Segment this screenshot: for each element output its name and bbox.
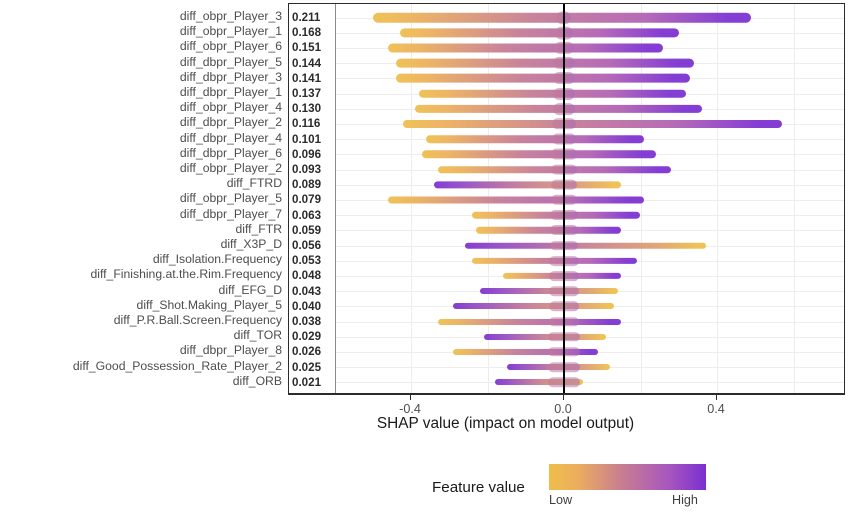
feature-importance-value: 0.130 — [292, 101, 321, 116]
beeswarm-row — [289, 208, 844, 223]
feature-importance-value: 0.025 — [292, 360, 321, 375]
feature-importance-value: 0.151 — [292, 40, 321, 55]
beeswarm-row — [289, 375, 844, 390]
beeswarm-row — [289, 56, 844, 71]
beeswarm-row — [289, 132, 844, 147]
feature-label: diff_ORB — [233, 374, 282, 389]
beeswarm-row — [289, 299, 844, 314]
beeswarm-point-cloud — [422, 151, 655, 158]
x-axis-tick — [410, 395, 411, 400]
x-axis-tick-label: -0.4 — [399, 402, 421, 416]
x-axis-tick — [716, 395, 717, 400]
beeswarm-row — [289, 192, 844, 207]
feature-importance-value: 0.063 — [292, 208, 321, 223]
beeswarm-row — [289, 329, 844, 344]
beeswarm-row — [289, 25, 844, 40]
feature-importance-value: 0.137 — [292, 86, 321, 101]
mean-abs-shap-value-column: 0.2110.1680.1510.1440.1410.1370.1300.116… — [289, 4, 336, 393]
beeswarm-row — [289, 147, 844, 162]
feature-label: diff_Shot.Making_Player_5 — [137, 298, 282, 313]
beeswarm-row — [289, 314, 844, 329]
feature-label: diff_obpr_Player_1 — [180, 24, 282, 39]
feature-importance-value: 0.059 — [292, 223, 321, 238]
beeswarm-row — [289, 284, 844, 299]
feature-importance-value: 0.040 — [292, 299, 321, 314]
color-legend: Feature value Low High — [0, 462, 861, 518]
feature-importance-value: 0.168 — [292, 25, 321, 40]
beeswarm-point-cloud — [396, 59, 694, 68]
feature-importance-value: 0.211 — [292, 10, 320, 25]
x-axis: -0.40.00.4 — [288, 394, 845, 395]
feature-label: diff_dbpr_Player_7 — [180, 207, 282, 222]
plot-panel: 0.2110.1680.1510.1440.1410.1370.1300.116… — [288, 3, 845, 394]
feature-importance-value: 0.021 — [292, 375, 321, 390]
beeswarm-row — [289, 238, 844, 253]
feature-importance-value: 0.144 — [292, 56, 321, 71]
legend-high-label: High — [672, 493, 698, 507]
feature-importance-value: 0.093 — [292, 162, 321, 177]
feature-label: diff_obpr_Player_6 — [180, 39, 282, 54]
feature-label: diff_dbpr_Player_6 — [180, 146, 282, 161]
beeswarm-row — [289, 162, 844, 177]
feature-label: diff_obpr_Player_5 — [180, 191, 282, 206]
feature-label: diff_EFG_D — [219, 283, 282, 298]
feature-label: diff_X3P_D — [221, 237, 282, 252]
beeswarm-row — [289, 360, 844, 375]
x-axis-tick-label: 0.0 — [554, 402, 572, 416]
zero-reference-line — [563, 4, 565, 393]
x-axis-title: SHAP value (impact on model output) — [227, 415, 634, 433]
feature-importance-value: 0.026 — [292, 344, 321, 359]
feature-label: diff_P.R.Ball.Screen.Frequency — [114, 313, 282, 328]
feature-label: diff_dbpr_Player_1 — [180, 85, 282, 100]
feature-importance-value: 0.043 — [292, 284, 321, 299]
beeswarm-row — [289, 268, 844, 283]
feature-importance-value: 0.079 — [292, 192, 321, 207]
feature-label: diff_dbpr_Player_8 — [180, 343, 282, 358]
feature-label: diff_FTRD — [227, 176, 282, 191]
beeswarm-row — [289, 40, 844, 55]
beeswarm-point-cloud — [484, 334, 606, 340]
beeswarm-point-cloud — [465, 242, 706, 248]
x-axis-title-wrap: SHAP value (impact on model output) — [0, 415, 861, 433]
beeswarm-row — [289, 71, 844, 86]
feature-importance-value: 0.116 — [292, 116, 320, 131]
feature-label: diff_dbpr_Player_2 — [180, 115, 282, 130]
legend-low-label: Low — [549, 493, 572, 507]
beeswarm-point-cloud — [400, 28, 679, 37]
beeswarm-point-cloud — [388, 196, 644, 203]
beeswarm-row — [289, 86, 844, 101]
feature-label-column: diff_obpr_Player_3diff_obpr_Player_1diff… — [0, 0, 286, 396]
beeswarm-row — [289, 223, 844, 238]
feature-importance-value: 0.096 — [292, 147, 321, 162]
feature-label: diff_TOR — [234, 328, 282, 343]
x-axis-tick-label: 0.4 — [707, 402, 725, 416]
beeswarm-row — [289, 344, 844, 359]
feature-label: diff_dbpr_Player_5 — [180, 55, 282, 70]
feature-importance-value: 0.029 — [292, 329, 321, 344]
feature-label: diff_Good_Possession_Rate_Player_2 — [73, 359, 282, 374]
shap-beeswarm-plot: diff_obpr_Player_3diff_obpr_Player_1diff… — [0, 0, 861, 518]
beeswarm-point-cloud — [438, 319, 622, 325]
feature-importance-value: 0.048 — [292, 268, 321, 283]
beeswarm-row — [289, 177, 844, 192]
beeswarm-point-cloud — [396, 74, 691, 83]
beeswarm-row — [289, 10, 844, 25]
beeswarm-point-cloud — [403, 120, 782, 128]
feature-importance-value: 0.089 — [292, 177, 321, 192]
feature-label: diff_FTR — [235, 222, 282, 237]
x-axis-line — [288, 394, 845, 395]
beeswarm-point-cloud — [434, 181, 621, 188]
feature-label: diff_dbpr_Player_4 — [180, 131, 282, 146]
feature-importance-value: 0.141 — [292, 71, 321, 86]
feature-importance-value: 0.053 — [292, 253, 321, 268]
beeswarm-point-cloud — [388, 44, 663, 53]
feature-label: diff_dbpr_Player_3 — [180, 70, 282, 85]
x-axis-tick — [563, 395, 564, 400]
legend-title: Feature value — [432, 479, 525, 496]
legend-gradient-bar — [549, 464, 706, 490]
feature-label: diff_obpr_Player_2 — [180, 161, 282, 176]
feature-importance-value: 0.038 — [292, 314, 321, 329]
beeswarm-row — [289, 253, 844, 268]
feature-importance-value: 0.056 — [292, 238, 321, 253]
feature-label: diff_Isolation.Frequency — [153, 252, 282, 267]
beeswarm-point-cloud — [426, 135, 644, 143]
feature-importance-value: 0.101 — [292, 132, 321, 147]
beeswarm-point-cloud — [453, 303, 614, 309]
beeswarm-row — [289, 101, 844, 116]
feature-label: diff_Finishing.at.the.Rim.Frequency — [91, 267, 282, 282]
beeswarm-row — [289, 116, 844, 131]
feature-label: diff_obpr_Player_4 — [180, 100, 282, 115]
feature-label: diff_obpr_Player_3 — [180, 9, 282, 24]
